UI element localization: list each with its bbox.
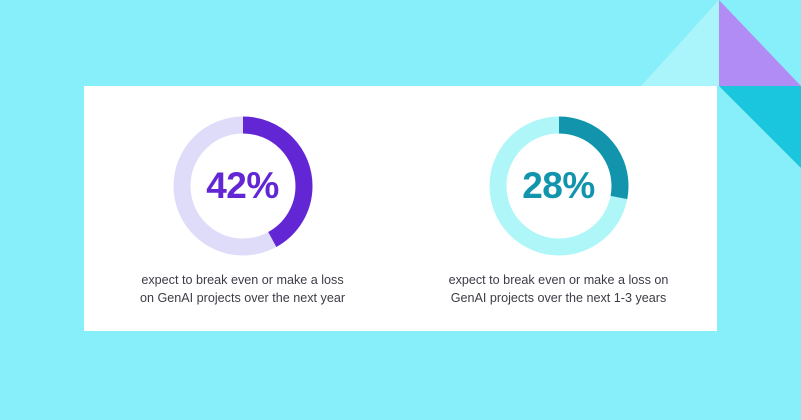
- stats-card: 42% expect to break even or make a loss …: [84, 86, 717, 331]
- donut-value-next-1-3-years: 28%: [489, 116, 629, 256]
- stat-block-next-year: 42% expect to break even or make a loss …: [85, 86, 401, 308]
- purple-triangle-icon: [719, 0, 801, 86]
- donut-value-next-year: 42%: [173, 116, 313, 256]
- donut-chart-next-year: 42%: [173, 116, 313, 256]
- infographic-canvas: 42% expect to break even or make a loss …: [0, 0, 801, 420]
- donut-chart-next-1-3-years: 28%: [489, 116, 629, 256]
- teal-square-icon: [719, 86, 801, 168]
- caption-next-year: expect to break even or make a loss on G…: [134, 271, 351, 308]
- light-cyan-triangle-icon: [719, 86, 801, 168]
- pale-cyan-triangle-icon: [641, 0, 719, 86]
- stat-block-next-1-3-years: 28% expect to break even or make a loss …: [401, 86, 717, 308]
- caption-next-1-3-years: expect to break even or make a loss on G…: [443, 271, 675, 308]
